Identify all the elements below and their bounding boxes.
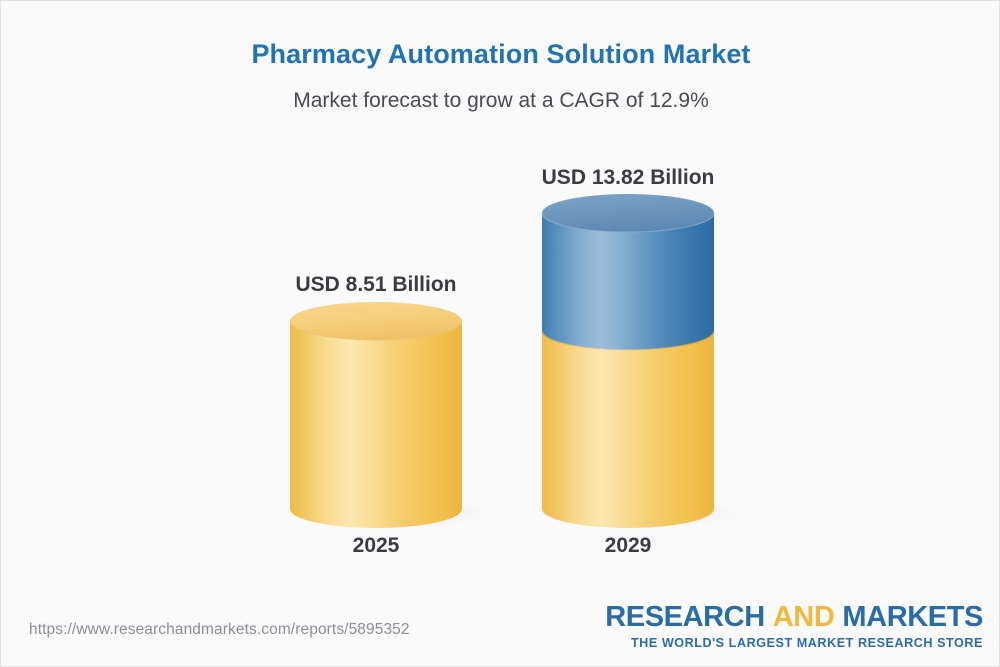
data-label-2029: USD 13.82 Billion [498, 166, 758, 190]
cylinder-bar-chart-svg [1, 1, 1000, 601]
data-label-2025: USD 8.51 Billion [246, 273, 506, 297]
research-and-markets-logo[interactable]: RESEARCHANDMARKETS THE WORLD'S LARGEST M… [605, 603, 983, 650]
bar-2025 [290, 302, 489, 529]
bar-2029-growth-segment [542, 213, 714, 350]
bar-2029-base-segment [542, 331, 714, 528]
report-url-link[interactable]: https://www.researchandmarkets.com/repor… [29, 621, 410, 639]
category-label-2025: 2025 [246, 534, 506, 558]
bar-2025-body [290, 321, 462, 528]
category-label-2029: 2029 [498, 534, 758, 558]
logo-wordmark: RESEARCHANDMARKETS [605, 603, 983, 632]
chart-card: Pharmacy Automation Solution Market Mark… [0, 0, 1000, 667]
chart-plot-area: USD 8.51 Billion USD 13.82 Billion 2025 … [1, 1, 1000, 601]
bar-2029 [542, 194, 741, 529]
logo-word-research: RESEARCH [605, 601, 765, 633]
logo-word-markets: MARKETS [842, 601, 983, 633]
logo-tagline: THE WORLD'S LARGEST MARKET RESEARCH STOR… [605, 637, 983, 650]
logo-word-and: AND [773, 601, 835, 633]
